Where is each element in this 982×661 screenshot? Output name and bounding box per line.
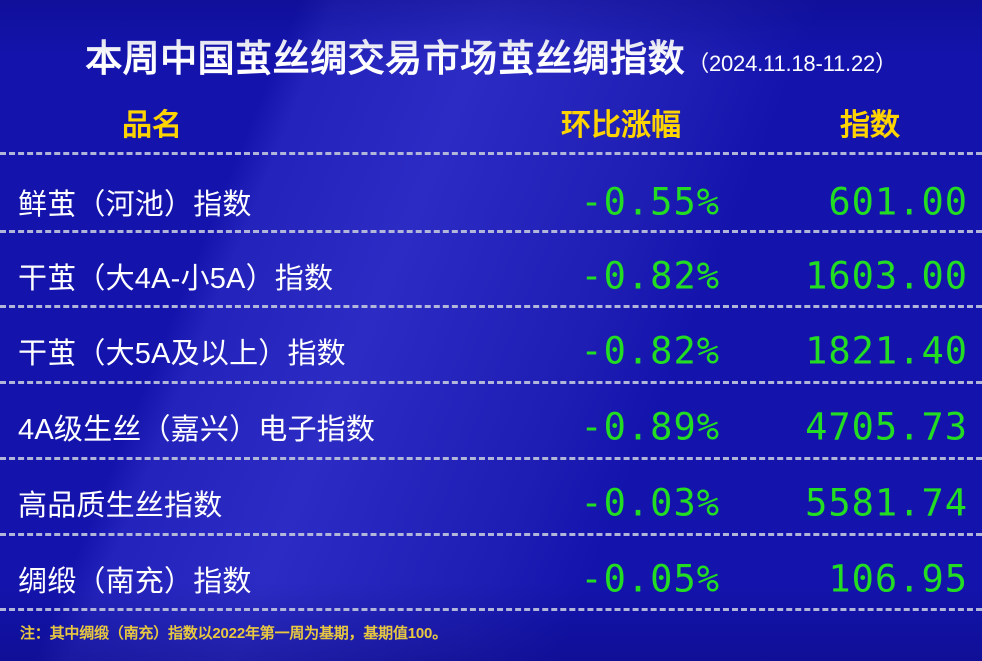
row-change: -0.89% (580, 406, 720, 449)
row-divider (0, 230, 982, 233)
table-header-row: 品名 环比涨幅 指数 (0, 96, 982, 146)
table-row: 高品质生丝指数 -0.03% 5581.74 (0, 467, 982, 539)
table-row: 鲜茧（河池）指数 -0.55% 601.00 (0, 166, 982, 238)
row-change: -0.05% (580, 558, 720, 601)
column-header-name: 品名 (122, 100, 182, 144)
table-row: 绸缎（南充）指数 -0.05% 106.95 (0, 543, 982, 615)
row-label: 高品质生丝指数 (18, 482, 222, 524)
row-divider (0, 533, 982, 536)
title-date-range: （2024.11.18-11.22） (687, 46, 897, 78)
index-table-infographic: 本周中国茧丝绸交易市场茧丝绸指数 （2024.11.18-11.22） 品名 环… (0, 0, 982, 661)
table-row: 干茧（大4A-小5A）指数 -0.82% 1603.00 (0, 240, 982, 312)
row-index: 106.95 (828, 558, 968, 601)
column-header-index: 指数 (840, 100, 900, 144)
row-divider (0, 381, 982, 384)
row-index: 1603.00 (805, 255, 968, 298)
page-title: 本周中国茧丝绸交易市场茧丝绸指数 （2024.11.18-11.22） (0, 28, 982, 84)
table-row: 4A级生丝（嘉兴）电子指数 -0.89% 4705.73 (0, 391, 982, 463)
row-divider (0, 608, 982, 611)
row-label: 4A级生丝（嘉兴）电子指数 (18, 406, 375, 448)
row-index: 1821.40 (805, 330, 968, 373)
row-change: -0.55% (580, 181, 720, 224)
footnote-text: 注：其中绸缎（南充）指数以2022年第一周为基期，基期值100。 (20, 622, 447, 643)
row-divider (0, 305, 982, 308)
row-divider (0, 152, 982, 155)
row-label: 干茧（大4A-小5A）指数 (18, 255, 333, 297)
row-change: -0.82% (580, 330, 720, 373)
title-main-text: 本周中国茧丝绸交易市场茧丝绸指数 (85, 28, 685, 82)
row-change: -0.82% (580, 255, 720, 298)
table-row: 干茧（大5A及以上）指数 -0.82% 1821.40 (0, 315, 982, 387)
row-label: 鲜茧（河池）指数 (18, 181, 252, 223)
row-divider (0, 457, 982, 460)
column-header-change: 环比涨幅 (561, 100, 681, 144)
row-change: -0.03% (580, 482, 720, 525)
row-index: 4705.73 (805, 406, 968, 449)
row-index: 601.00 (828, 181, 968, 224)
row-label: 干茧（大5A及以上）指数 (18, 330, 346, 372)
row-index: 5581.74 (805, 482, 968, 525)
row-label: 绸缎（南充）指数 (18, 558, 252, 600)
